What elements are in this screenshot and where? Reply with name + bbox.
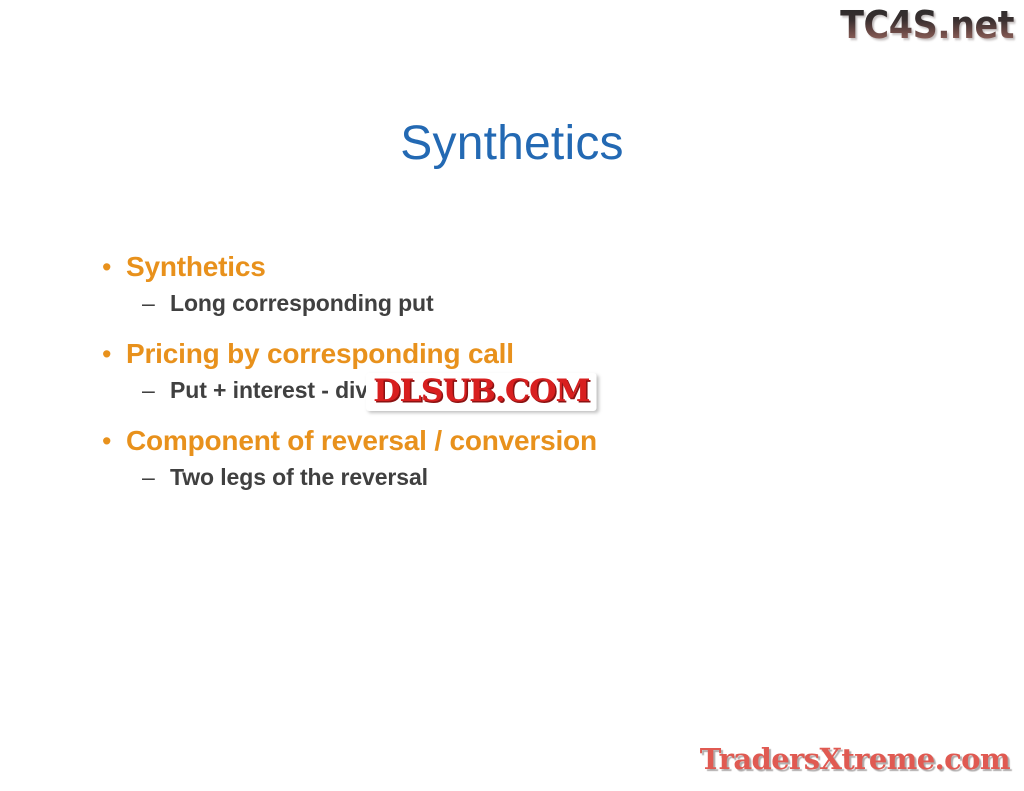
dlsub-watermark: DLSUB.COM <box>366 373 597 411</box>
presentation-slide: TC4S.net Synthetics • Synthetics – Long … <box>0 0 1024 791</box>
tradersxtreme-watermark: TradersXtreme.com <box>700 743 1010 775</box>
bullet-level2-label: Long corresponding put <box>170 287 434 319</box>
bullet-group: • Component of reversal / conversion – T… <box>96 424 936 493</box>
site-logo: TC4S.net <box>840 6 1014 44</box>
slide-title: Synthetics <box>0 118 1024 171</box>
bullet-level1-label: Synthetics <box>126 250 266 284</box>
group-spacer <box>96 410 936 424</box>
bullet-marker-icon: • <box>96 424 126 458</box>
bullet-level1: • Synthetics <box>96 250 936 284</box>
bullet-level2-label: Two legs of the reversal <box>170 461 428 493</box>
bullet-level2: – Long corresponding put <box>142 287 936 319</box>
dash-marker-icon: – <box>142 374 170 406</box>
dash-marker-icon: – <box>142 287 170 319</box>
bullet-level1-label: Pricing by corresponding call <box>126 337 514 371</box>
bullet-level1-label: Component of reversal / conversion <box>126 424 597 458</box>
dash-marker-icon: – <box>142 461 170 493</box>
bullet-level1: • Pricing by corresponding call <box>96 337 936 371</box>
bullet-marker-icon: • <box>96 337 126 371</box>
bullet-marker-icon: • <box>96 250 126 284</box>
bullet-level1: • Component of reversal / conversion <box>96 424 936 458</box>
bullet-level2: – Two legs of the reversal <box>142 461 936 493</box>
group-spacer <box>96 323 936 337</box>
bullet-group: • Synthetics – Long corresponding put <box>96 250 936 319</box>
